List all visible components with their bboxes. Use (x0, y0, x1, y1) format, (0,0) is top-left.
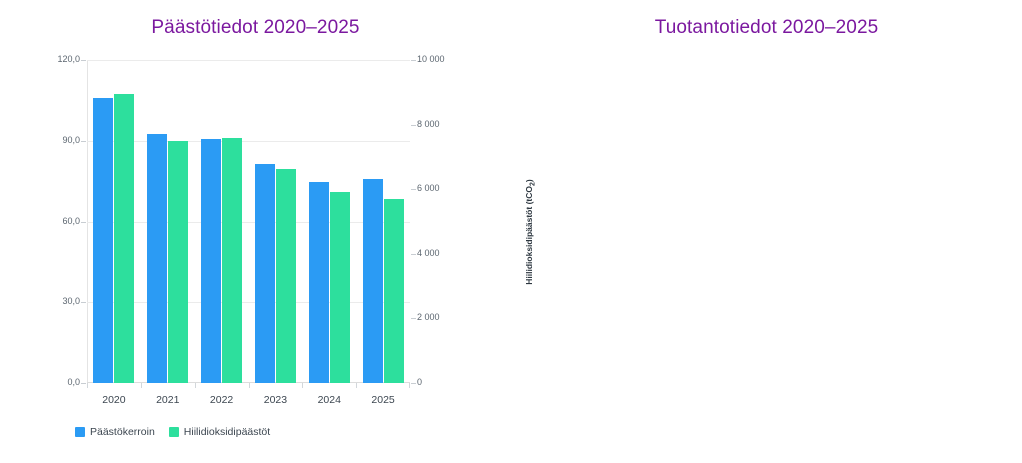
y2-axis-tick-mark (411, 318, 416, 319)
x-axis-tick-mark (249, 383, 250, 388)
y-axis-tick-mark (81, 222, 86, 223)
x-axis-tick-mark (195, 383, 196, 388)
bar-co2-emissions (168, 141, 188, 383)
y-axis-tick-label: 0,0 (67, 378, 80, 387)
bar-emission-factor (363, 179, 383, 383)
y2-axis-tick-label: 6 000 (417, 184, 440, 193)
x-axis-tick-label: 2020 (102, 395, 125, 406)
gridline (87, 141, 410, 142)
x-axis-tick-mark (409, 383, 410, 388)
legend-swatch-icon (75, 427, 85, 437)
legend-swatch-icon (169, 427, 179, 437)
dashboard-page: Päästötiedot 2020–2025 Päästökerroin (kg… (0, 0, 1022, 463)
y-axis-tick-label: 30,0 (62, 297, 80, 306)
x-axis-tick-label: 2023 (264, 395, 287, 406)
bar-co2-emissions (330, 192, 350, 383)
y-axis-tick-label: 120,0 (57, 55, 80, 64)
bar-co2-emissions (384, 199, 404, 383)
x-axis-tick-mark (356, 383, 357, 388)
production-chart-panel: Tuotantotiedot 2020–2025 0,0 %20,0 %40,0… (511, 0, 1022, 463)
y2-axis-tick-mark (411, 189, 416, 190)
emissions-chart-panel: Päästötiedot 2020–2025 Päästökerroin (kg… (0, 0, 511, 463)
emissions-chart-title: Päästötiedot 2020–2025 (0, 17, 511, 39)
y2-axis-tick-label: 8 000 (417, 120, 440, 129)
gridline (87, 302, 410, 303)
y-axis-tick-mark (81, 60, 86, 61)
y2-axis-tick-label: 4 000 (417, 249, 440, 258)
bar-emission-factor (255, 164, 275, 383)
y-axis-tick-label: 60,0 (62, 217, 80, 226)
gridline (87, 222, 410, 223)
gridline (87, 60, 410, 61)
bar-co2-emissions (114, 94, 134, 383)
bar-co2-emissions (222, 138, 242, 383)
emissions-plot-area: 0,030,060,090,0120,002 0004 0006 0008 00… (87, 60, 410, 383)
bar-emission-factor (147, 134, 167, 383)
x-axis-tick-label: 2025 (371, 395, 394, 406)
x-axis-tick-label: 2021 (156, 395, 179, 406)
y-axis-tick-mark (81, 141, 86, 142)
production-chart-title: Tuotantotiedot 2020–2025 (511, 17, 1022, 39)
y2-axis-tick-mark (411, 125, 416, 126)
y2-axis-tick-label: 10 000 (417, 55, 445, 64)
bar-co2-emissions (276, 169, 296, 383)
y-axis-tick-label: 90,0 (62, 136, 80, 145)
x-axis-tick-label: 2024 (318, 395, 341, 406)
bar-emission-factor (201, 139, 221, 383)
emissions-legend: PäästökerroinHiilidioksidipäästöt (75, 427, 270, 438)
legend-item-label: Päästökerroin (90, 427, 155, 438)
x-axis-tick-mark (87, 383, 88, 388)
y-axis-tick-mark (81, 383, 86, 384)
y2-axis-tick-mark (411, 254, 416, 255)
y2-axis-tick-label: 0 (417, 378, 422, 387)
y2-axis-tick-mark (411, 383, 416, 384)
x-axis-tick-mark (141, 383, 142, 388)
y2-axis-tick-mark (411, 60, 416, 61)
x-axis-tick-mark (302, 383, 303, 388)
bar-emission-factor (93, 98, 113, 383)
legend-item-label: Hiilidioksidipäästöt (184, 427, 270, 438)
y-axis-tick-mark (81, 302, 86, 303)
y2-axis-tick-label: 2 000 (417, 313, 440, 322)
bar-emission-factor (309, 182, 329, 383)
legend-item[interactable]: Päästökerroin (75, 427, 155, 438)
legend-item[interactable]: Hiilidioksidipäästöt (169, 427, 270, 438)
x-axis-tick-label: 2022 (210, 395, 233, 406)
